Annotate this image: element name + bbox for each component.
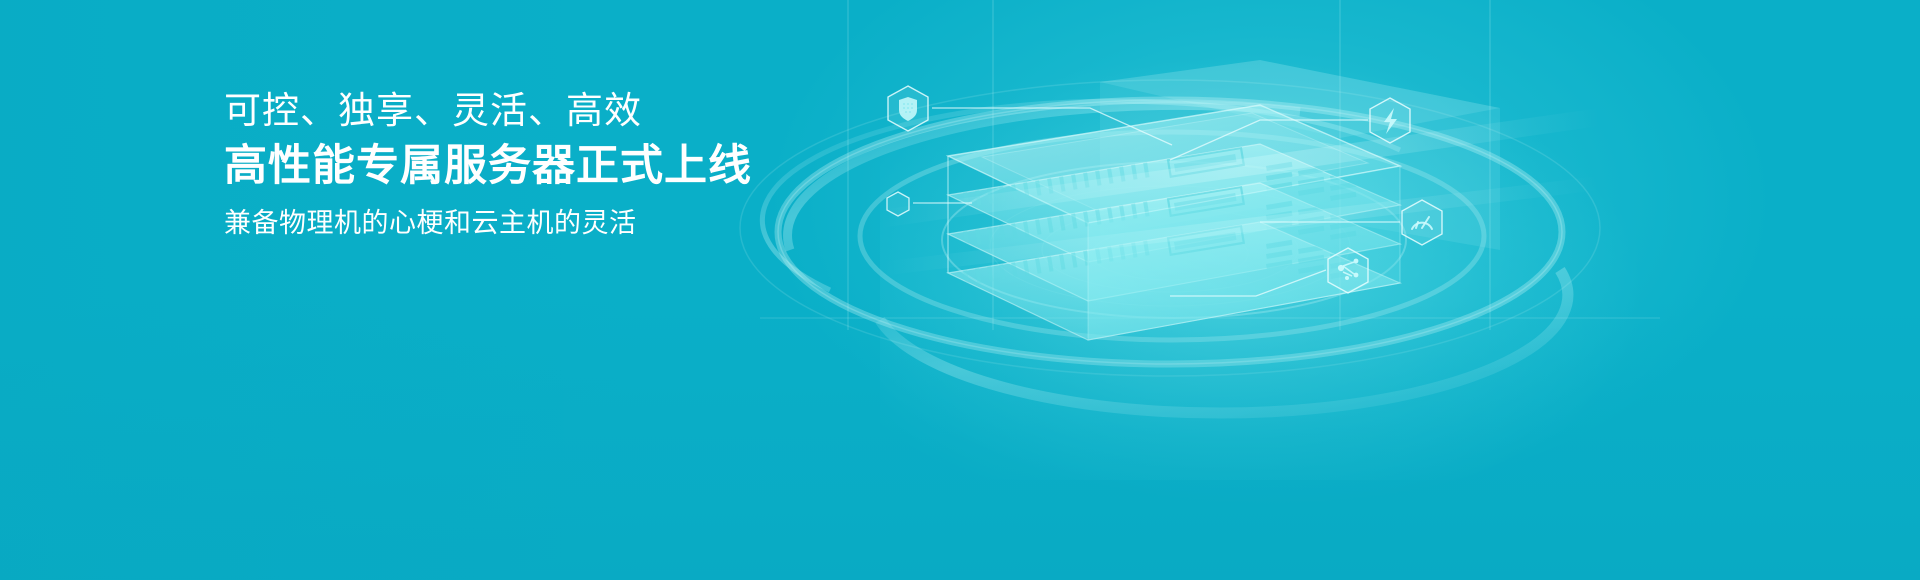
speedometer-icon — [1412, 217, 1432, 229]
bottom-shade — [0, 300, 1920, 580]
server-rack — [948, 105, 1400, 340]
ground-texture — [990, 186, 1350, 306]
rack-unit — [948, 222, 1400, 340]
port-grid — [1266, 162, 1356, 201]
left-vignette — [0, 0, 620, 580]
headline-text: 高性能专属服务器正式上线 — [224, 139, 1004, 194]
subcopy-text: 兼备物理机的心梗和云主机的灵活 — [224, 206, 1004, 241]
rack-unit — [948, 183, 1400, 301]
background-glow-primary — [760, 0, 1780, 510]
port-grid — [1266, 240, 1356, 279]
promo-banner: 可控、独享、灵活、高效 高性能专属服务器正式上线 兼备物理机的心梗和云主机的灵活 — [0, 0, 1920, 580]
copy-block: 可控、独享、灵活、高效 高性能专属服务器正式上线 兼备物理机的心梗和云主机的灵活 — [224, 88, 1004, 241]
node-lightning — [1370, 98, 1410, 143]
rack-unit — [948, 144, 1400, 262]
drive-bay — [1168, 187, 1244, 216]
lightning-icon — [1384, 108, 1397, 134]
network-icon — [1338, 259, 1358, 280]
drive-bay — [1168, 226, 1244, 255]
node-network — [1328, 248, 1368, 293]
eyebrow-text: 可控、独享、灵活、高效 — [224, 88, 1004, 133]
port-grid — [1266, 201, 1356, 240]
node-speedometer — [1402, 200, 1442, 245]
drive-bay — [1168, 148, 1244, 177]
glass-prism — [1100, 60, 1500, 250]
